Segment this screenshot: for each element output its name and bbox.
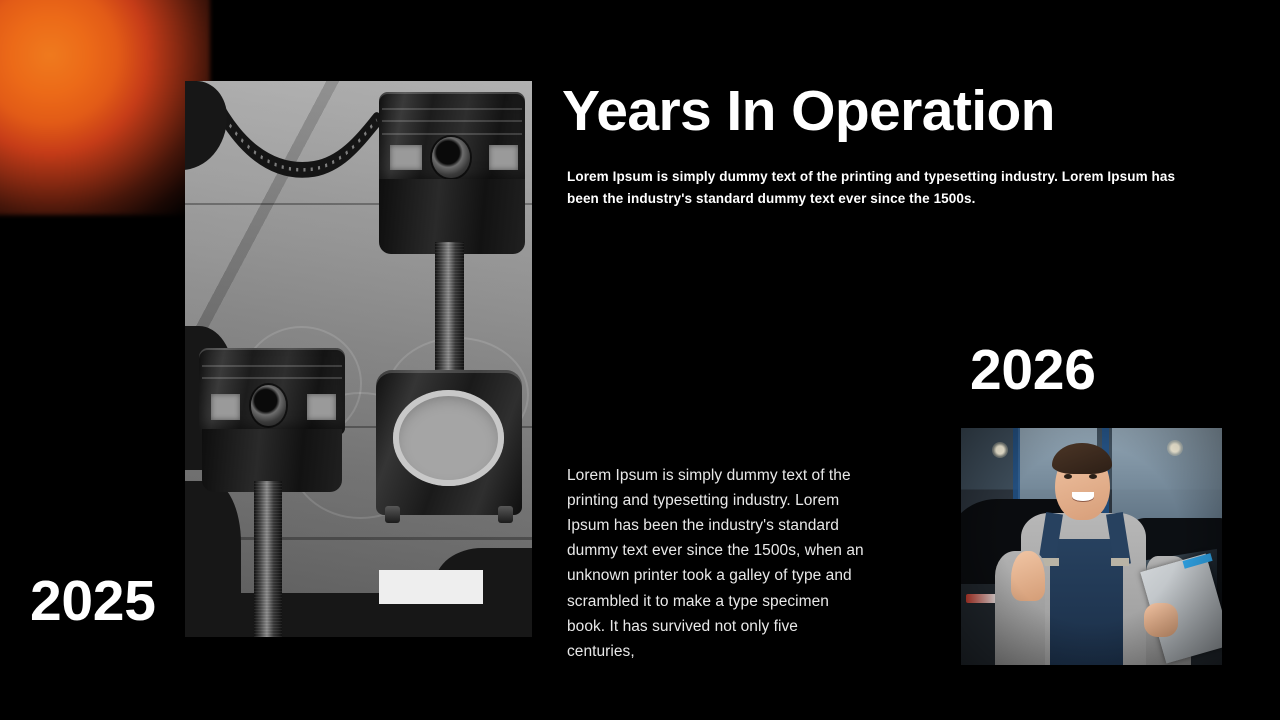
cap-bolt	[498, 506, 513, 523]
headline-block: Years In Operation Lorem Ipsum is simply…	[562, 82, 1202, 210]
year-label-end: 2026	[970, 342, 1096, 399]
piston-pad	[211, 394, 240, 420]
connecting-rod-bearing-cap	[376, 370, 522, 515]
piston-ring-groove	[382, 133, 522, 135]
rod-texture	[254, 481, 282, 637]
engine-pistons-photo	[185, 81, 532, 637]
piston-pin-boss	[432, 137, 470, 177]
presentation-slide: Years In Operation Lorem Ipsum is simply…	[0, 0, 1280, 720]
bearing-bore	[393, 390, 504, 485]
year-label-start: 2025	[30, 573, 156, 630]
piston-upper	[379, 92, 525, 403]
photo-vignette	[961, 428, 1222, 665]
mechanic-thumbs-up-photo	[961, 428, 1222, 665]
cap-bolt	[385, 506, 400, 523]
light-paper-strip	[379, 570, 483, 603]
subtitle-text: Lorem Ipsum is simply dummy text of the …	[567, 166, 1183, 210]
body-paragraph: Lorem Ipsum is simply dummy text of the …	[567, 463, 867, 664]
piston-ring-groove	[202, 377, 342, 379]
piston-lower	[199, 348, 345, 637]
piston-pad	[489, 145, 518, 170]
piston-pad	[307, 394, 336, 420]
piston-ring-groove	[382, 120, 522, 122]
piston-pad	[390, 145, 422, 170]
piston-pin-boss	[251, 385, 286, 425]
connecting-rod	[254, 481, 282, 637]
page-title: Years In Operation	[562, 82, 1202, 140]
orange-glow-decoration	[0, 0, 210, 215]
piston-ring-groove	[202, 365, 342, 367]
piston-ring-groove	[382, 108, 522, 110]
